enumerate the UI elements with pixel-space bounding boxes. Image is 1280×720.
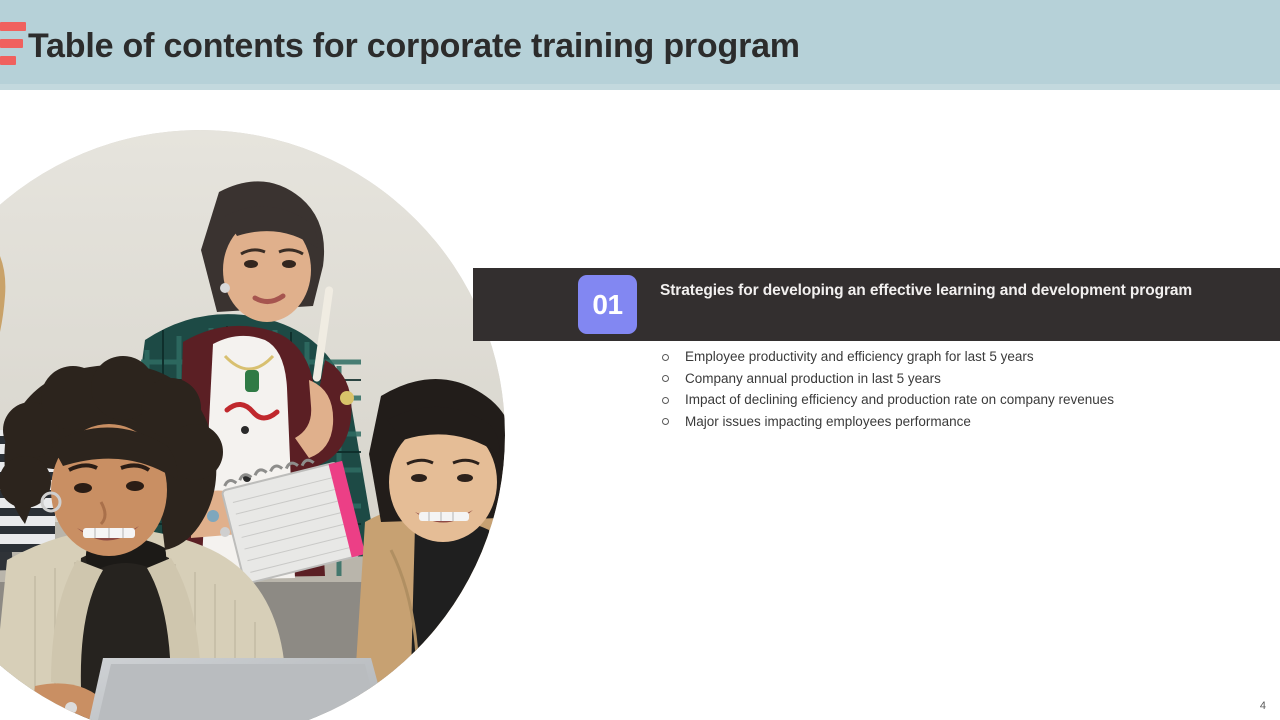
accent-bar-2: [0, 39, 23, 48]
list-item: Major issues impacting employees perform…: [658, 411, 1218, 433]
section-banner: 01 Strategies for developing an effectiv…: [473, 268, 1280, 341]
header-accent-marks-icon: [0, 22, 26, 70]
slide-canvas: Table of contents for corporate training…: [0, 0, 1280, 720]
section-heading: Strategies for developing an effective l…: [660, 278, 1260, 304]
list-item-label: Major issues impacting employees perform…: [685, 414, 971, 429]
bullet-circle-icon: [662, 375, 669, 382]
bullet-circle-icon: [662, 418, 669, 425]
list-item: Impact of declining efficiency and produ…: [658, 389, 1218, 411]
accent-bar-1: [0, 22, 26, 31]
list-item: Employee productivity and efficiency gra…: [658, 346, 1218, 368]
list-item-label: Impact of declining efficiency and produ…: [685, 392, 1114, 407]
list-item-label: Employee productivity and efficiency gra…: [685, 349, 1034, 364]
page-title: Table of contents for corporate training…: [28, 22, 1228, 70]
list-item-label: Company annual production in last 5 year…: [685, 371, 941, 386]
section-number-badge: 01: [578, 275, 637, 334]
bullet-circle-icon: [662, 397, 669, 404]
bullet-circle-icon: [662, 354, 669, 361]
header-underline: [0, 84, 1280, 90]
team-photo: [0, 130, 505, 720]
accent-bar-3: [0, 56, 16, 65]
list-item: Company annual production in last 5 year…: [658, 368, 1218, 390]
section-bullet-list: Employee productivity and efficiency gra…: [658, 346, 1218, 432]
page-number: 4: [1260, 700, 1266, 712]
